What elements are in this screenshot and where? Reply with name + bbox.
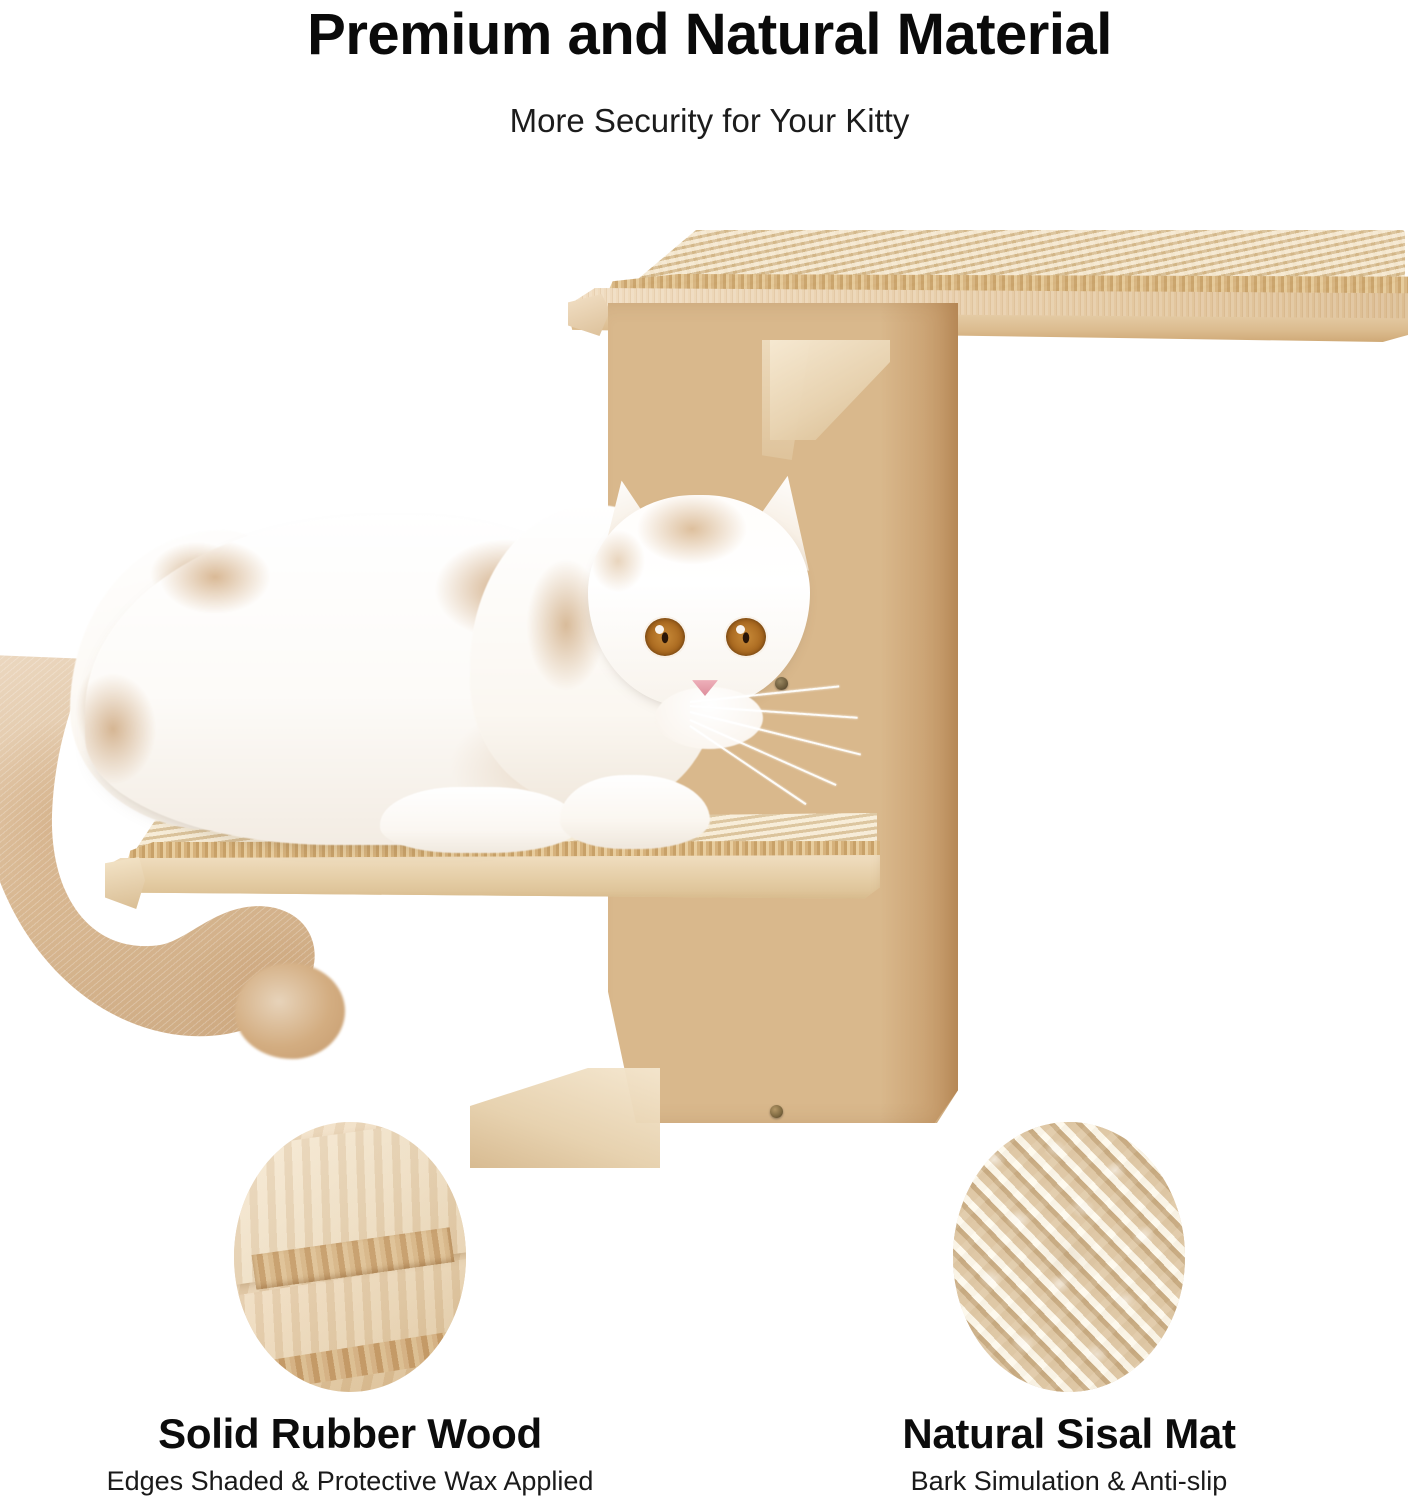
- cat-eye-right-highlight: [736, 625, 745, 634]
- cat-front-paw-right: [560, 775, 710, 849]
- feature-natural-sisal-mat: Natural Sisal Mat Bark Simulation & Anti…: [719, 1122, 1419, 1497]
- page-title: Premium and Natural Material: [0, 4, 1419, 67]
- cat-eye-left-highlight: [655, 625, 664, 634]
- feature-title: Natural Sisal Mat: [719, 1410, 1419, 1458]
- feature-subtitle: Bark Simulation & Anti-slip: [719, 1466, 1419, 1497]
- natural-sisal-mat-swatch: [953, 1122, 1185, 1392]
- cat-eye-left: [645, 618, 685, 656]
- feature-title: Solid Rubber Wood: [0, 1410, 700, 1458]
- page-subtitle: More Security for Your Kitty: [0, 102, 1419, 140]
- sisal-swatch-background: [953, 1122, 1185, 1392]
- feature-solid-rubber-wood: Solid Rubber Wood Edges Shaded & Protect…: [0, 1122, 700, 1497]
- feature-subtitle: Edges Shaded & Protective Wax Applied: [0, 1466, 700, 1497]
- cat-eye-right: [726, 618, 766, 656]
- cat-front-paw-left: [380, 787, 580, 853]
- solid-rubber-wood-swatch: [234, 1122, 466, 1392]
- cat-head: [588, 495, 810, 707]
- cat-photo: [0, 175, 1419, 1110]
- cat-tail-tip: [235, 963, 345, 1059]
- sisal-weave-texture: [953, 1122, 1185, 1392]
- cat-whiskers: [690, 695, 950, 825]
- wood-swatch-background: [234, 1122, 466, 1392]
